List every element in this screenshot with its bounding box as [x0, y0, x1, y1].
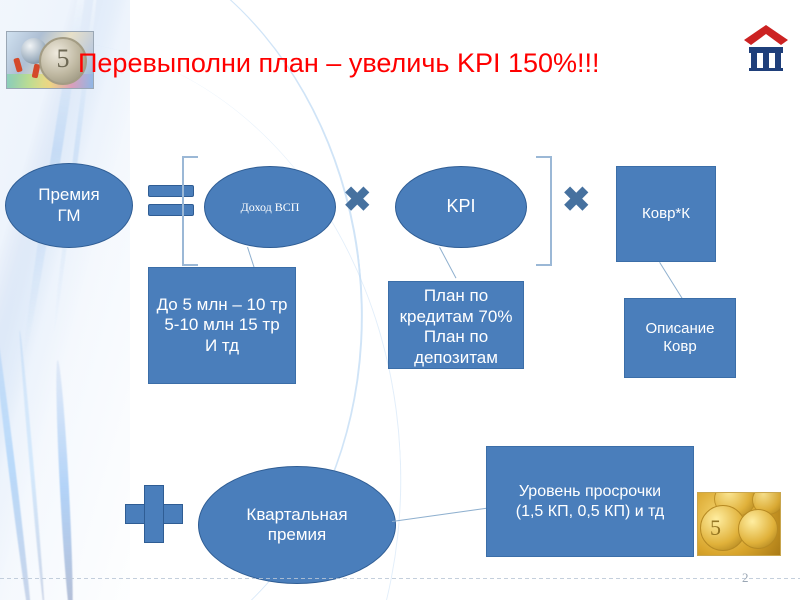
- node-kovr-description[interactable]: Описание Ковр: [624, 298, 736, 378]
- node-kpi[interactable]: KPI: [395, 166, 527, 248]
- connector-bonus-to-overdue: [392, 507, 491, 522]
- connector-kpi-to-plan: [439, 247, 456, 278]
- node-premium-gm[interactable]: Премия ГМ: [5, 163, 133, 248]
- coins-photo-footer: 5: [697, 492, 781, 556]
- operator-plus: [125, 485, 183, 543]
- page-title: Перевыполни план – увеличь KPI 150%!!!: [78, 48, 778, 79]
- detail-income-tiers[interactable]: До 5 млн – 10 тр 5-10 млн 15 тр И тд: [148, 267, 296, 384]
- operator-multiply-2: ✖: [562, 180, 591, 220]
- node-kovr-k[interactable]: Ковр*К: [616, 166, 716, 262]
- detail-kpi-plan[interactable]: План по кредитам 70% План по депозитам: [388, 281, 524, 369]
- bracket-close: [536, 156, 552, 266]
- node-quarterly-bonus[interactable]: Квартальная премия: [198, 466, 396, 584]
- page-number: 2: [742, 570, 749, 586]
- operator-multiply-1: ✖: [343, 180, 372, 220]
- detail-overdue-level[interactable]: Уровень просрочки (1,5 КП, 0,5 КП) и тд: [486, 446, 694, 557]
- node-income-vsp[interactable]: Доход ВСП: [204, 166, 336, 248]
- decorative-background-left: [0, 0, 130, 600]
- bank-building-logo-icon: [740, 22, 792, 72]
- footer-divider: [0, 578, 800, 579]
- connector-kovr-to-description: [659, 262, 684, 302]
- slide-canvas: 5 Перевыполни план – увеличь KPI 150%!!!…: [0, 0, 800, 600]
- bracket-open: [182, 156, 198, 266]
